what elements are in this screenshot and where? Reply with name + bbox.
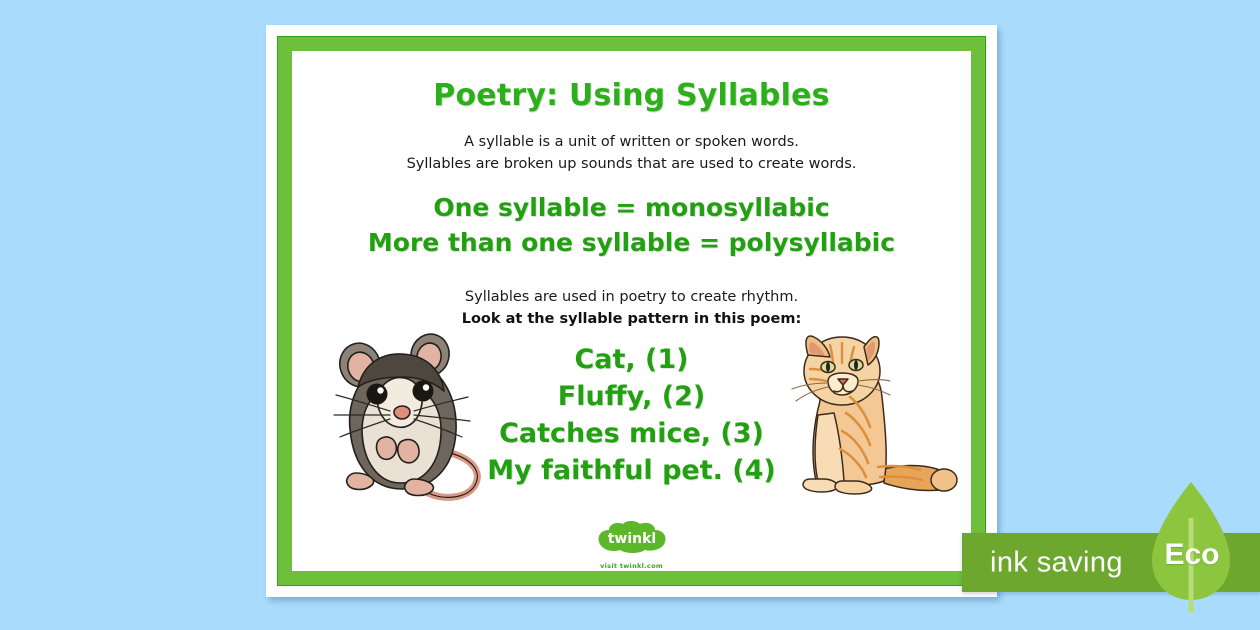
poster-content: Poetry: Using Syllables A syllable is a … (292, 51, 971, 571)
twinkl-cloud-icon: twinkl (595, 521, 669, 557)
twinkl-url: visit twinkl.com (567, 562, 697, 570)
twinkl-wordmark: twinkl (607, 531, 656, 547)
twinkl-logo: twinkl visit twinkl.com (567, 521, 697, 570)
cat-illustration (780, 323, 965, 512)
poetry-note: Syllables are used in poetry to create r… (292, 287, 971, 309)
eco-label: Eco (1155, 538, 1229, 572)
rule-monosyllabic: One syllable = monosyllabic (292, 190, 971, 226)
intro-line-1: A syllable is a unit of written or spoke… (292, 131, 971, 153)
rule-polysyllabic: More than one syllable = polysyllabic (292, 225, 971, 261)
intro-block: A syllable is a unit of written or spoke… (292, 131, 971, 176)
poster-green-frame: Poetry: Using Syllables A syllable is a … (278, 37, 985, 585)
poster-page: Poetry: Using Syllables A syllable is a … (266, 25, 997, 597)
rules-block: One syllable = monosyllabic More than on… (292, 190, 971, 261)
intro-line-2: Syllables are broken up sounds that are … (292, 153, 971, 175)
mouse-illustration (322, 323, 492, 512)
page-title: Poetry: Using Syllables (292, 51, 971, 113)
ink-saving-label: ink saving (990, 546, 1123, 579)
